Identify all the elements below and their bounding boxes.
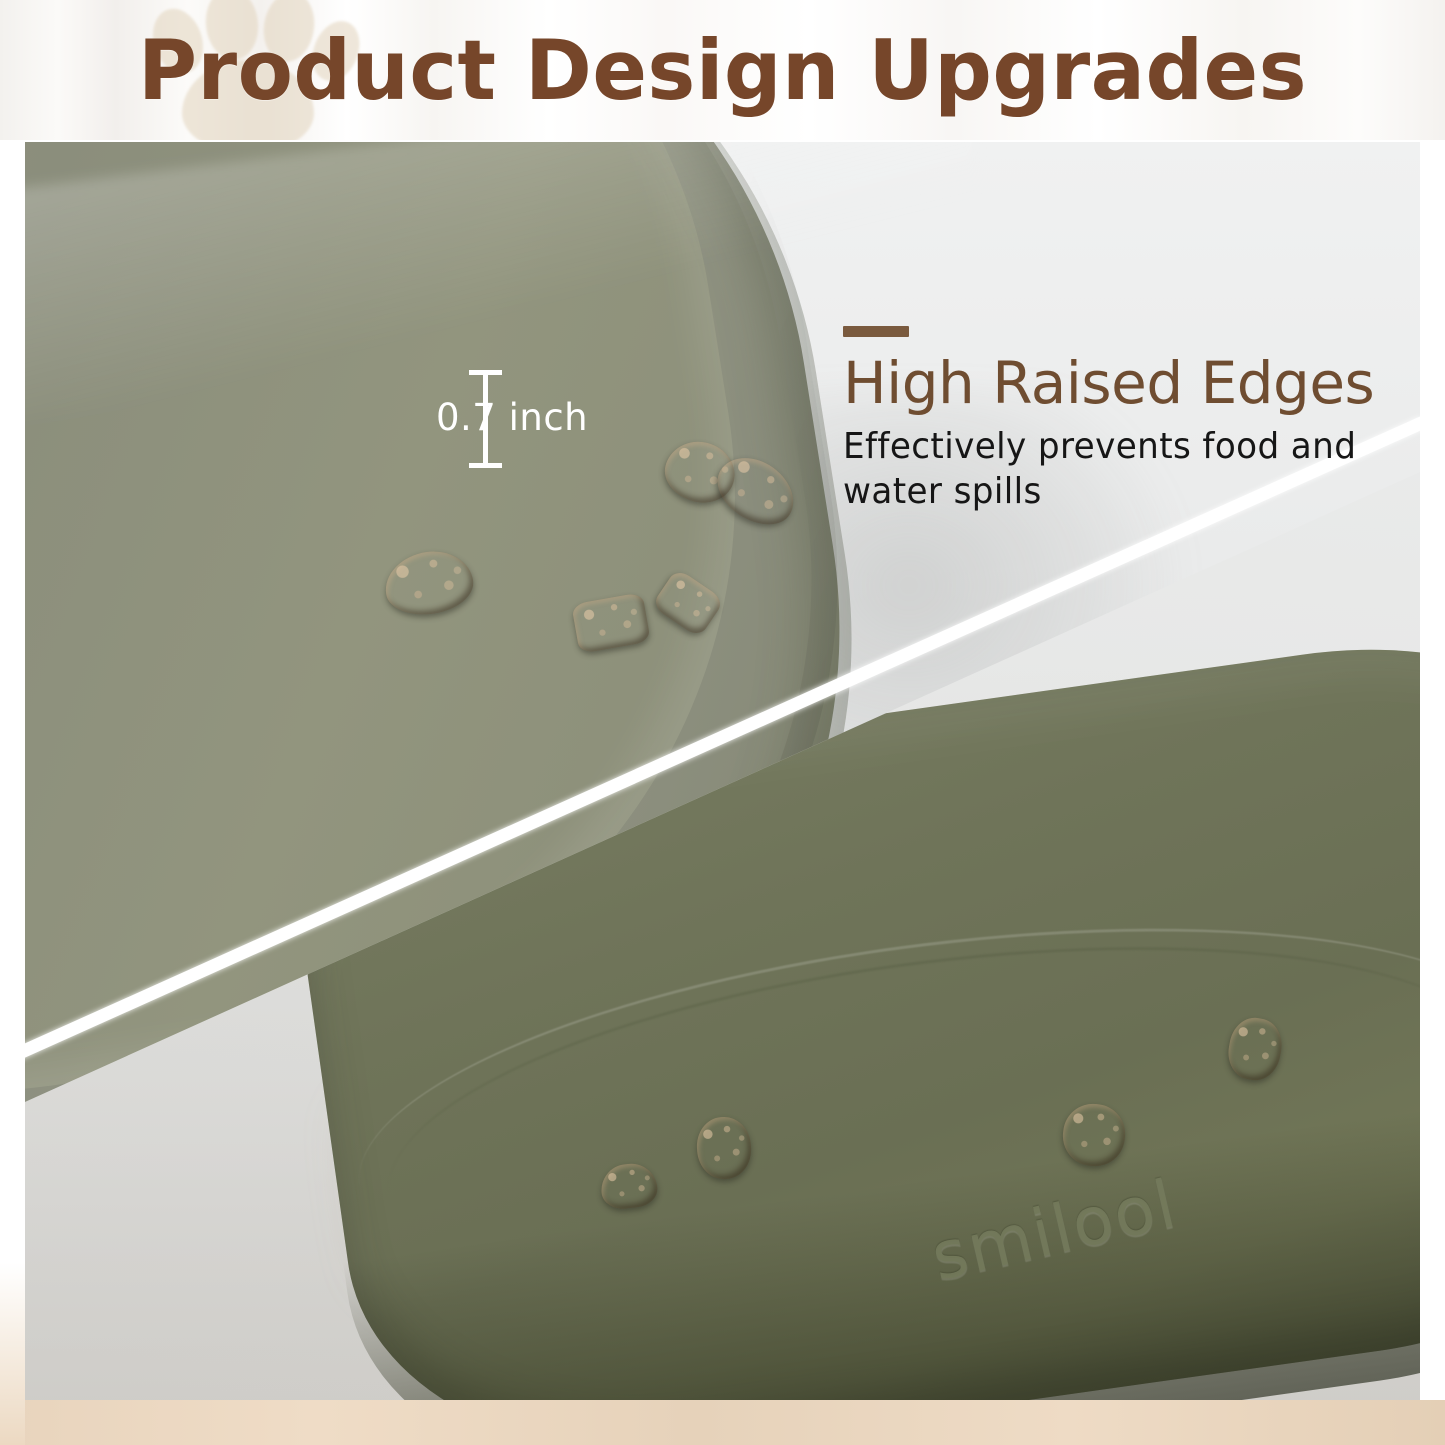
bottom-warm-strip: [0, 1400, 1445, 1445]
accent-rule: [843, 326, 909, 337]
feature-block-high-raised-edges: High Raised Edges Effectively prevents f…: [843, 326, 1420, 515]
feature-heading: High Raised Edges: [843, 353, 1420, 413]
dimension-label: 0.7 inch: [436, 396, 588, 439]
header-band: Product Design Upgrades: [0, 0, 1445, 140]
dimension-cap-bottom: [469, 463, 502, 468]
feature-subtext: Effectively prevents food and water spil…: [843, 425, 1413, 514]
left-white-margin: [0, 142, 25, 1445]
product-infographic: Product Design Upgrades 0.7 inch: [0, 0, 1445, 1445]
product-photo-composite: 0.7 inch smilool High Raised Edges Effec…: [25, 142, 1420, 1400]
dimension-callout: 0.7 inch: [437, 364, 597, 474]
page-title: Product Design Upgrades: [22, 0, 1424, 140]
